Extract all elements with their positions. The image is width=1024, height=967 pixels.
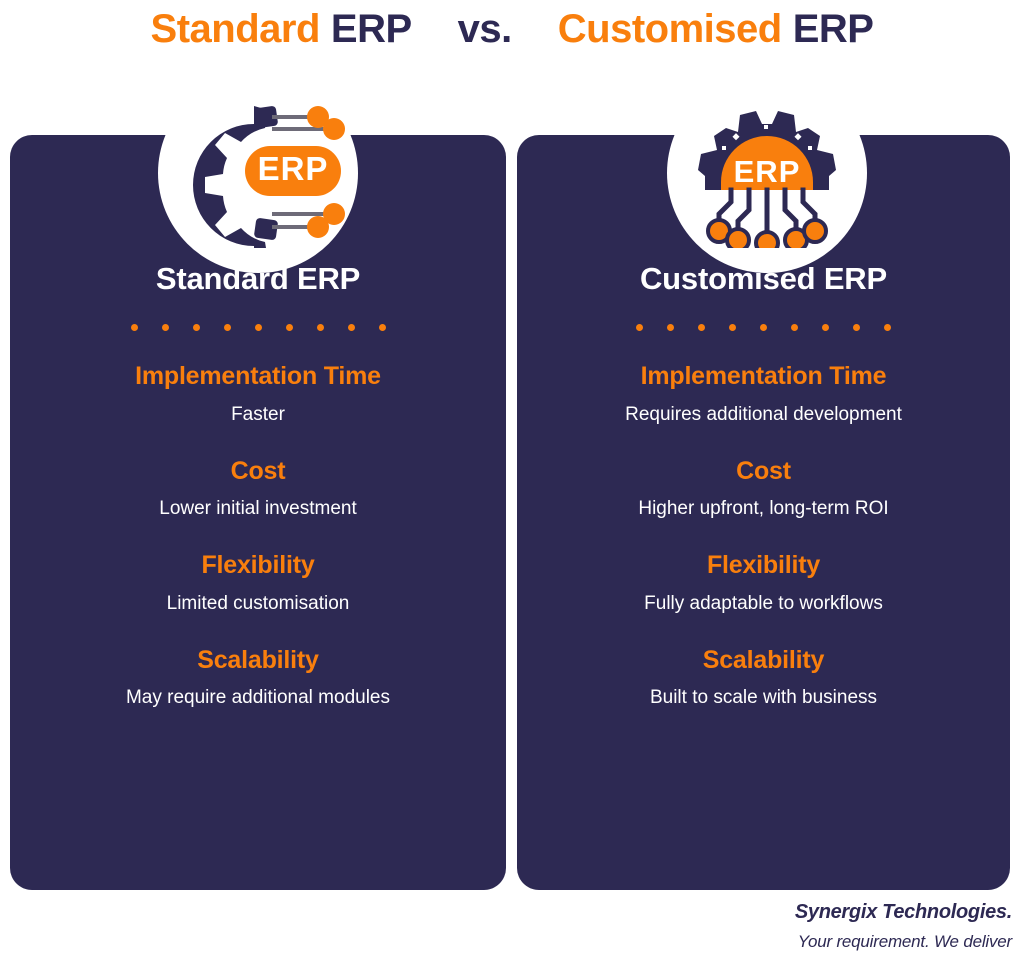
feature-value: Faster — [28, 404, 488, 427]
svg-text:ERP: ERP — [734, 154, 801, 189]
feature-value: Limited customisation — [28, 593, 488, 616]
divider-dot — [822, 324, 829, 331]
title-standard-highlight: Standard — [151, 9, 320, 49]
feature-label: Scalability — [28, 646, 488, 675]
divider-dot — [131, 324, 138, 331]
card-customised-erp: ERP Customised ERP — [517, 135, 1010, 890]
feature-value: Lower initial investment — [28, 498, 488, 521]
divider-dot — [729, 324, 736, 331]
company-name: Synergix Technologies. — [592, 900, 1012, 924]
feature-value: Requires additional development — [535, 404, 992, 427]
comparison-cards: ERP Standard ERP Implementation Time Fas… — [10, 135, 1010, 890]
feature-label: Implementation Time — [535, 362, 992, 391]
feature-label: Cost — [535, 457, 992, 486]
divider-dot — [255, 324, 262, 331]
title-customised-highlight: Customised — [558, 9, 782, 49]
feature-row: Implementation Time Faster — [28, 362, 488, 427]
divider-dot — [224, 324, 231, 331]
feature-value: Fully adaptable to workflows — [535, 593, 992, 616]
feature-label: Flexibility — [28, 551, 488, 580]
title-customised-erp: ERP — [793, 9, 874, 49]
divider-dot — [760, 324, 767, 331]
feature-row: Implementation Time Requires additional … — [535, 362, 992, 427]
divider-dot — [379, 324, 386, 331]
feature-row: Flexibility Limited customisation — [28, 551, 488, 616]
gear-erp-circuit-icon: ERP — [158, 73, 358, 273]
divider-dot — [884, 324, 891, 331]
divider-dot — [698, 324, 705, 331]
feature-row: Cost Higher upfront, long-term ROI — [535, 457, 992, 522]
divider-dot — [853, 324, 860, 331]
feature-value: May require additional modules — [28, 687, 488, 710]
title-standard-erp: ERP — [331, 9, 412, 49]
dot-divider-standard — [28, 322, 488, 332]
divider-dot — [636, 324, 643, 331]
feature-label: Implementation Time — [28, 362, 488, 391]
feature-row: Cost Lower initial investment — [28, 457, 488, 522]
divider-dot — [667, 324, 674, 331]
divider-dot — [317, 324, 324, 331]
feature-row: Scalability May require additional modul… — [28, 646, 488, 711]
gear-dome-erp-nodes-icon: ERP — [667, 73, 867, 273]
title-separator: vs. — [458, 9, 512, 49]
feature-row: Scalability Built to scale with business — [535, 646, 992, 711]
footer-branding: Synergix Technologies. Your requirement.… — [592, 900, 1012, 952]
feature-label: Cost — [28, 457, 488, 486]
card-standard-erp: ERP Standard ERP Implementation Time Fas… — [10, 135, 506, 890]
feature-value: Built to scale with business — [535, 687, 992, 710]
divider-dot — [286, 324, 293, 331]
feature-value: Higher upfront, long-term ROI — [535, 498, 992, 521]
feature-label: Flexibility — [535, 551, 992, 580]
divider-dot — [791, 324, 798, 331]
svg-text:ERP: ERP — [257, 150, 328, 187]
feature-row: Flexibility Fully adaptable to workflows — [535, 551, 992, 616]
divider-dot — [193, 324, 200, 331]
divider-dot — [162, 324, 169, 331]
company-tagline: Your requirement. We deliver — [592, 932, 1012, 952]
feature-label: Scalability — [535, 646, 992, 675]
divider-dot — [348, 324, 355, 331]
dot-divider-customised — [535, 322, 992, 332]
page-title: Standard ERP vs. Customised ERP — [0, 0, 1024, 58]
